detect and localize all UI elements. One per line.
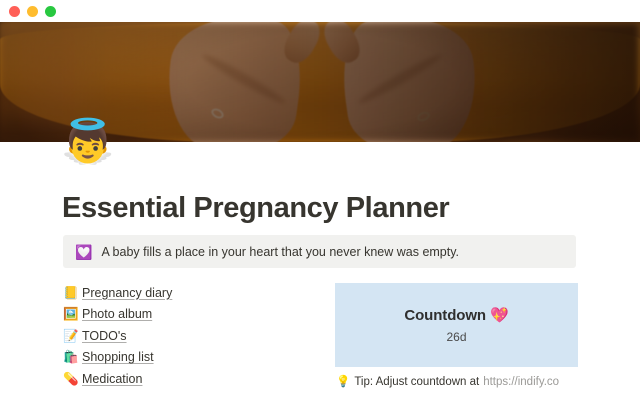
page-content: Essential Pregnancy Planner 💟 A baby fil…	[0, 142, 640, 400]
list-item[interactable]: 📝 TODO's	[63, 325, 313, 347]
link-shopping-list[interactable]: Shopping list	[82, 349, 154, 365]
pill-icon: 💊	[63, 371, 82, 387]
page-link-list: 📒 Pregnancy diary 🖼️ Photo album 📝 TODO'…	[63, 282, 313, 390]
list-item[interactable]: 🛍️ Shopping list	[63, 347, 313, 369]
countdown-title: Countdown 💖	[404, 306, 508, 326]
app-window: 👼 Essential Pregnancy Planner 💟 A baby f…	[0, 0, 640, 400]
tip-line: 💡 Tip: Adjust countdown at https://indif…	[336, 374, 559, 390]
indify-link[interactable]: https://indify.co	[483, 374, 559, 390]
list-item[interactable]: 🖼️ Photo album	[63, 304, 313, 326]
countdown-widget[interactable]: Countdown 💖 26d	[335, 283, 578, 367]
baby-angel-icon[interactable]: 👼	[61, 118, 115, 166]
notebook-icon: 📒	[63, 285, 82, 301]
link-pregnancy-diary[interactable]: Pregnancy diary	[82, 285, 172, 301]
link-medication[interactable]: Medication	[82, 371, 142, 387]
link-todos[interactable]: TODO's	[82, 328, 127, 344]
window-titlebar	[0, 0, 640, 22]
minimize-window-button[interactable]	[27, 6, 38, 17]
page-title: Essential Pregnancy Planner	[62, 191, 449, 225]
link-photo-album[interactable]: Photo album	[82, 306, 152, 322]
callout-text: A baby fills a place in your heart that …	[101, 244, 459, 260]
countdown-value: 26d	[446, 329, 466, 345]
maximize-window-button[interactable]	[45, 6, 56, 17]
memo-icon: 📝	[63, 328, 82, 344]
tip-text: Tip: Adjust countdown at	[354, 374, 479, 390]
list-item[interactable]: 📒 Pregnancy diary	[63, 282, 313, 304]
close-window-button[interactable]	[9, 6, 20, 17]
lightbulb-icon: 💡	[336, 374, 350, 390]
quote-callout[interactable]: 💟 A baby fills a place in your heart tha…	[63, 235, 576, 268]
heart-decoration-icon: 💟	[75, 244, 92, 260]
list-item[interactable]: 💊 Medication	[63, 368, 313, 390]
shopping-bags-icon: 🛍️	[63, 349, 82, 365]
framed-picture-icon: 🖼️	[63, 306, 82, 322]
